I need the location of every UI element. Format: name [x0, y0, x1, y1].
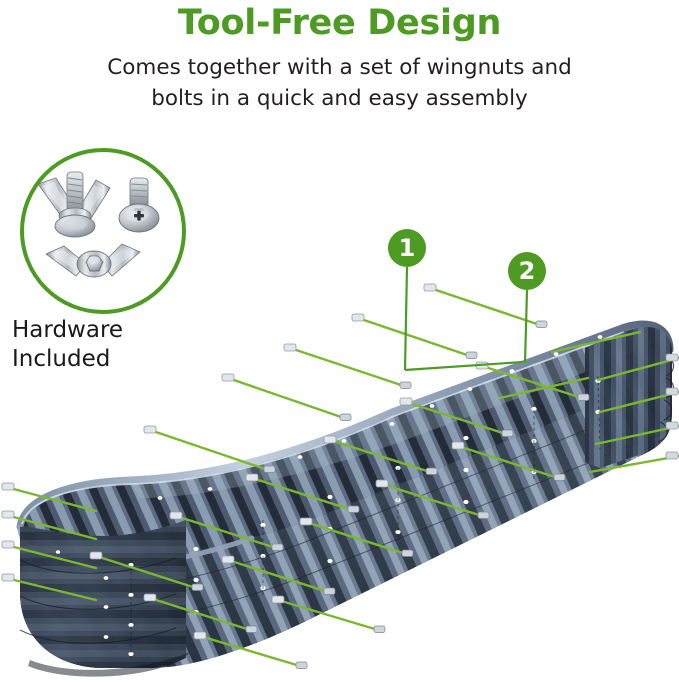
infographic-canvas: Tool-Free Design Comes together with a s… — [0, 0, 679, 682]
callout-2-stem — [525, 290, 527, 363]
bolt-icon — [119, 178, 159, 232]
hardware-included-label: Hardware Included — [12, 316, 202, 374]
wingnut-icon — [46, 244, 140, 277]
callout-1-stem — [405, 267, 407, 370]
callout-badge-1[interactable]: 1 — [388, 229, 426, 267]
hardware-icons-group — [20, 148, 186, 314]
wingnut-on-bolt-icon — [38, 172, 110, 237]
hardware-label-line-2: Included — [12, 345, 202, 374]
callout-badge-2[interactable]: 2 — [508, 252, 546, 290]
hardware-label-line-1: Hardware — [12, 316, 202, 345]
